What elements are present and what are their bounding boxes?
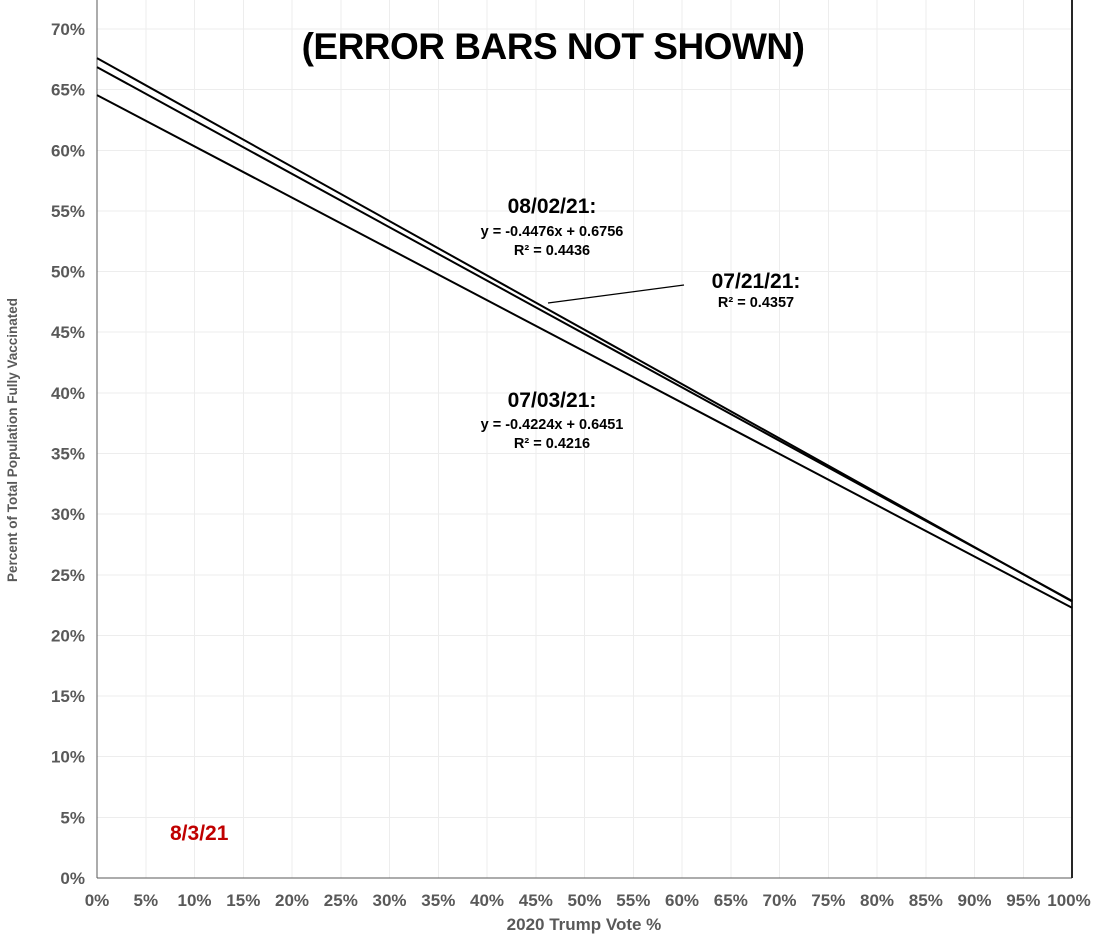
annotation-equation: y = -0.4476x + 0.6756 [481, 224, 624, 240]
chart-background [0, 0, 1101, 935]
x-tick-55: 55% [616, 891, 650, 910]
y-tick-5: 5% [60, 808, 85, 827]
y-tick-0: 0% [60, 869, 85, 888]
x-tick-30: 30% [372, 891, 406, 910]
y-tick-50: 50% [51, 263, 85, 282]
x-tick-85: 85% [909, 891, 943, 910]
scatter-trendline-chart: (ERROR BARS NOT SHOWN) 70% 65% 60% 55% 5… [0, 0, 1101, 935]
y-axis-title: Percent of Total Population Fully Vaccin… [5, 298, 20, 582]
x-tick-70: 70% [762, 891, 796, 910]
x-tick-5: 5% [134, 891, 159, 910]
x-tick-45: 45% [519, 891, 553, 910]
y-tick-20: 20% [51, 626, 85, 645]
y-tick-40: 40% [51, 384, 85, 403]
y-tick-30: 30% [51, 505, 85, 524]
x-tick-35: 35% [421, 891, 455, 910]
x-tick-95: 95% [1006, 891, 1040, 910]
y-tick-15: 15% [51, 687, 85, 706]
x-axis-tick-labels: 0% 5% 10% 15% 20% 25% 30% 35% 40% 45% 50… [85, 891, 1091, 910]
annotation-r-squared: R² = 0.4357 [718, 295, 794, 311]
annotation-date-label: 07/03/21: [508, 389, 597, 412]
x-axis-title: 2020 Trump Vote % [507, 915, 662, 934]
x-tick-50: 50% [567, 891, 601, 910]
y-tick-60: 60% [51, 141, 85, 160]
annotation-date-label: 07/21/21: [712, 270, 801, 293]
datestamp-label: 8/3/21 [170, 822, 229, 845]
x-tick-20: 20% [275, 891, 309, 910]
annotation-07-21-21: 07/21/21: R² = 0.4357 [712, 270, 801, 311]
annotation-equation: y = -0.4224x + 0.6451 [481, 417, 624, 433]
y-tick-25: 25% [51, 566, 85, 585]
chart-container: (ERROR BARS NOT SHOWN) 70% 65% 60% 55% 5… [0, 0, 1101, 935]
annotation-r-squared: R² = 0.4216 [514, 436, 590, 452]
y-tick-10: 10% [51, 748, 85, 767]
y-tick-65: 65% [51, 81, 85, 100]
x-tick-80: 80% [860, 891, 894, 910]
x-tick-40: 40% [470, 891, 504, 910]
x-tick-15: 15% [226, 891, 260, 910]
x-tick-0: 0% [85, 891, 110, 910]
x-tick-65: 65% [714, 891, 748, 910]
x-tick-75: 75% [811, 891, 845, 910]
x-tick-90: 90% [957, 891, 991, 910]
x-tick-10: 10% [177, 891, 211, 910]
chart-title: (ERROR BARS NOT SHOWN) [302, 26, 805, 67]
x-tick-25: 25% [324, 891, 358, 910]
y-tick-35: 35% [51, 445, 85, 464]
annotation-r-squared: R² = 0.4436 [514, 243, 590, 259]
y-tick-55: 55% [51, 202, 85, 221]
annotation-date-label: 08/02/21: [508, 195, 597, 218]
y-axis-tick-labels: 70% 65% 60% 55% 50% 45% 40% 35% 30% 25% … [51, 20, 85, 888]
x-tick-100: 100% [1047, 891, 1090, 910]
y-tick-45: 45% [51, 323, 85, 342]
y-tick-70: 70% [51, 20, 85, 39]
x-tick-60: 60% [665, 891, 699, 910]
